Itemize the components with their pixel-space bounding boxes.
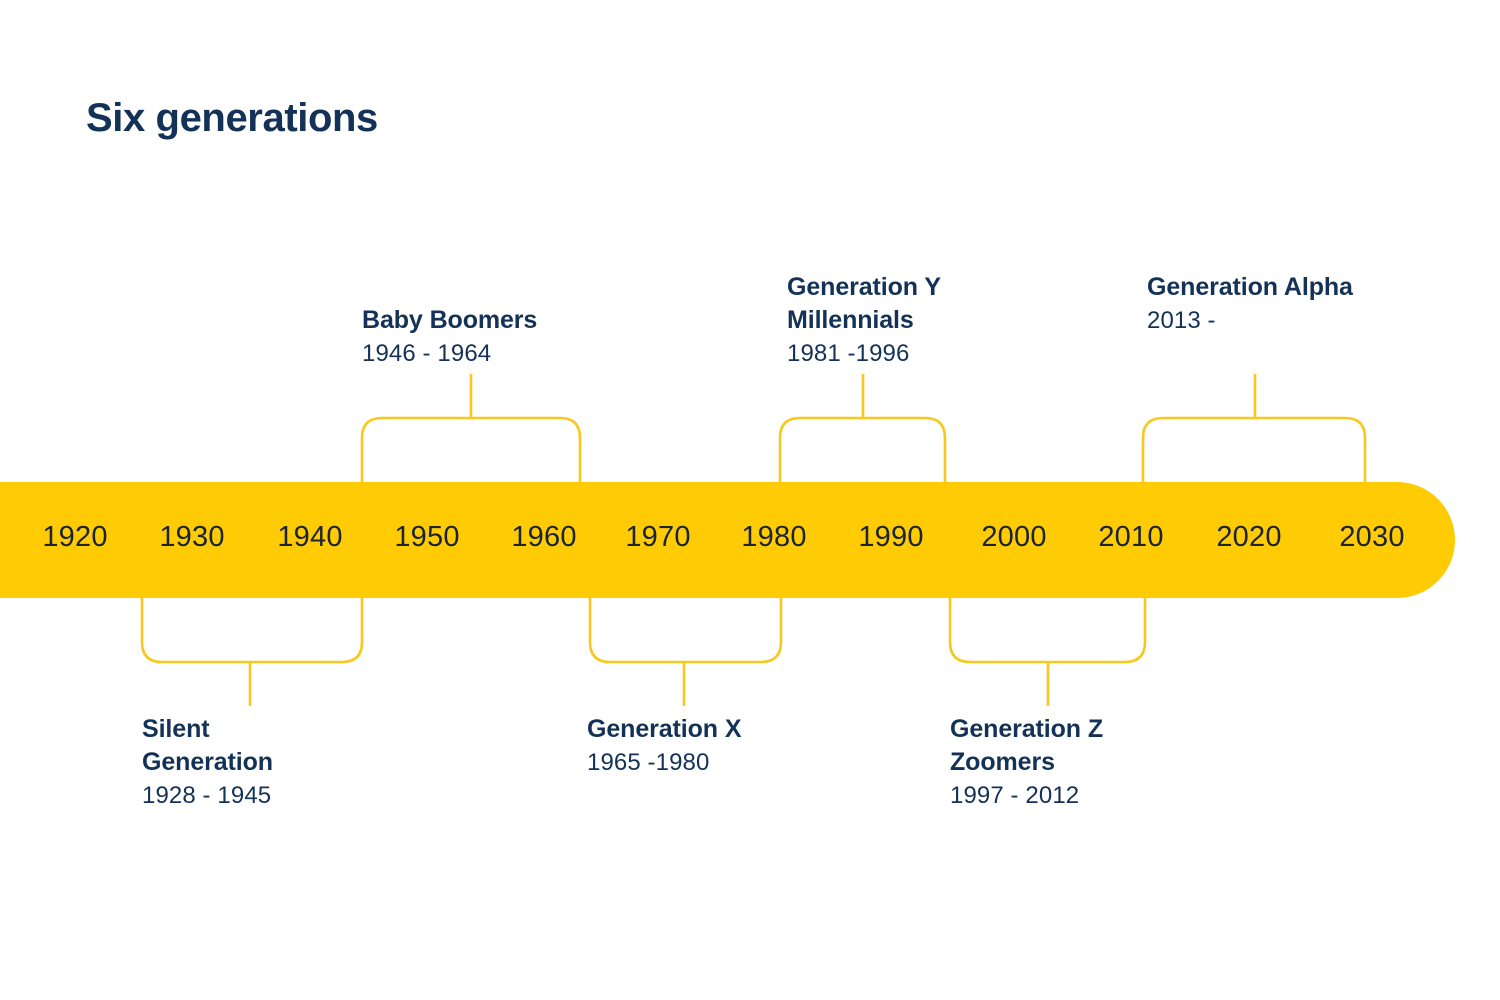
decade-label-2000: 2000 (981, 521, 1046, 554)
decade-label-2030: 2030 (1339, 521, 1404, 554)
decade-label-1960: 1960 (511, 521, 576, 554)
decade-label-1970: 1970 (625, 521, 690, 554)
bracket-silent (142, 598, 362, 662)
generation-years-generation-y: 1981 -1996 (787, 337, 941, 370)
generation-years-baby-boomers: 1946 - 1964 (362, 337, 537, 370)
generation-name-line2-generation-y: Millennials (787, 304, 941, 337)
generation-years-generation-z: 1997 - 2012 (950, 779, 1103, 812)
bracket-generation-x (590, 598, 781, 662)
decade-label-2010: 2010 (1098, 521, 1163, 554)
decade-label-1990: 1990 (858, 521, 923, 554)
decade-label-2020: 2020 (1216, 521, 1281, 554)
generation-label-generation-x: Generation X1965 -1980 (587, 713, 741, 779)
generation-name-generation-z: Generation Z (950, 713, 1103, 746)
decade-label-1920: 1920 (42, 521, 107, 554)
generation-name-line2-generation-z: Zoomers (950, 746, 1103, 779)
decade-label-1940: 1940 (277, 521, 342, 554)
bracket-generation-y (780, 418, 945, 482)
generation-label-silent: SilentGeneration1928 - 1945 (142, 713, 273, 812)
generation-label-baby-boomers: Baby Boomers1946 - 1964 (362, 304, 537, 370)
bracket-generation-z (950, 598, 1145, 662)
bracket-baby-boomers (362, 418, 580, 482)
decade-label-1950: 1950 (394, 521, 459, 554)
bracket-generation-alpha (1143, 418, 1365, 482)
generation-years-generation-alpha: 2013 - (1147, 304, 1353, 337)
generation-name-line2-silent: Generation (142, 746, 273, 779)
generation-label-generation-y: Generation YMillennials1981 -1996 (787, 271, 941, 370)
generation-name-silent: Silent (142, 713, 273, 746)
generation-name-generation-y: Generation Y (787, 271, 941, 304)
generation-name-generation-alpha: Generation Alpha (1147, 271, 1353, 304)
decade-label-1930: 1930 (159, 521, 224, 554)
generation-years-generation-x: 1965 -1980 (587, 746, 741, 779)
generation-label-generation-z: Generation ZZoomers1997 - 2012 (950, 713, 1103, 812)
generation-name-generation-x: Generation X (587, 713, 741, 746)
page-title: Six generations (86, 96, 378, 141)
generation-years-silent: 1928 - 1945 (142, 779, 273, 812)
generation-name-baby-boomers: Baby Boomers (362, 304, 537, 337)
infographic-canvas: Six generations 192019301940195019601970… (0, 0, 1500, 1000)
generation-label-generation-alpha: Generation Alpha2013 - (1147, 271, 1353, 337)
decade-label-1980: 1980 (741, 521, 806, 554)
